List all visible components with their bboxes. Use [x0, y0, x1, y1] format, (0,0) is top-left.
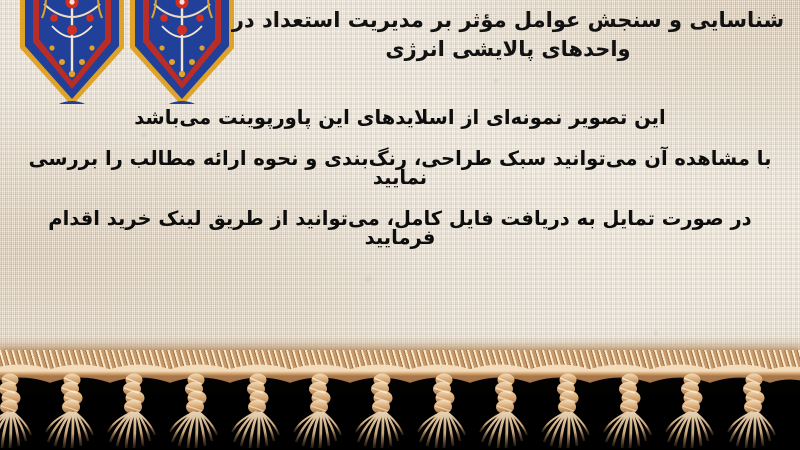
persian-medallion-ornament-left — [18, 0, 126, 104]
body-line-3: در صورت تمایل به دریافت فایل کامل، می‌تو… — [20, 209, 780, 248]
body-line-2: با مشاهده آن می‌توانید سبک طراحی، رنگ‌بن… — [20, 149, 780, 188]
body-line-1: این تصویر نمونه‌ای از اسلایدهای این پاور… — [20, 108, 780, 128]
title-line-1: شناسایی و سنجش عوامل مؤثر بر مدیریت استع… — [230, 6, 786, 35]
title-line-2: واحدهای پالایشی انرژی — [230, 35, 786, 64]
knotted-tassel-fringe — [0, 360, 800, 450]
slide-canvas: شناسایی و سنجش عوامل مؤثر بر مدیریت استع… — [0, 0, 800, 450]
persian-medallion-ornament-right — [128, 0, 236, 104]
slide-title: شناسایی و سنجش عوامل مؤثر بر مدیریت استع… — [230, 6, 786, 64]
slide-body: این تصویر نمونه‌ای از اسلایدهای این پاور… — [20, 108, 780, 269]
ornament-group — [0, 0, 240, 100]
